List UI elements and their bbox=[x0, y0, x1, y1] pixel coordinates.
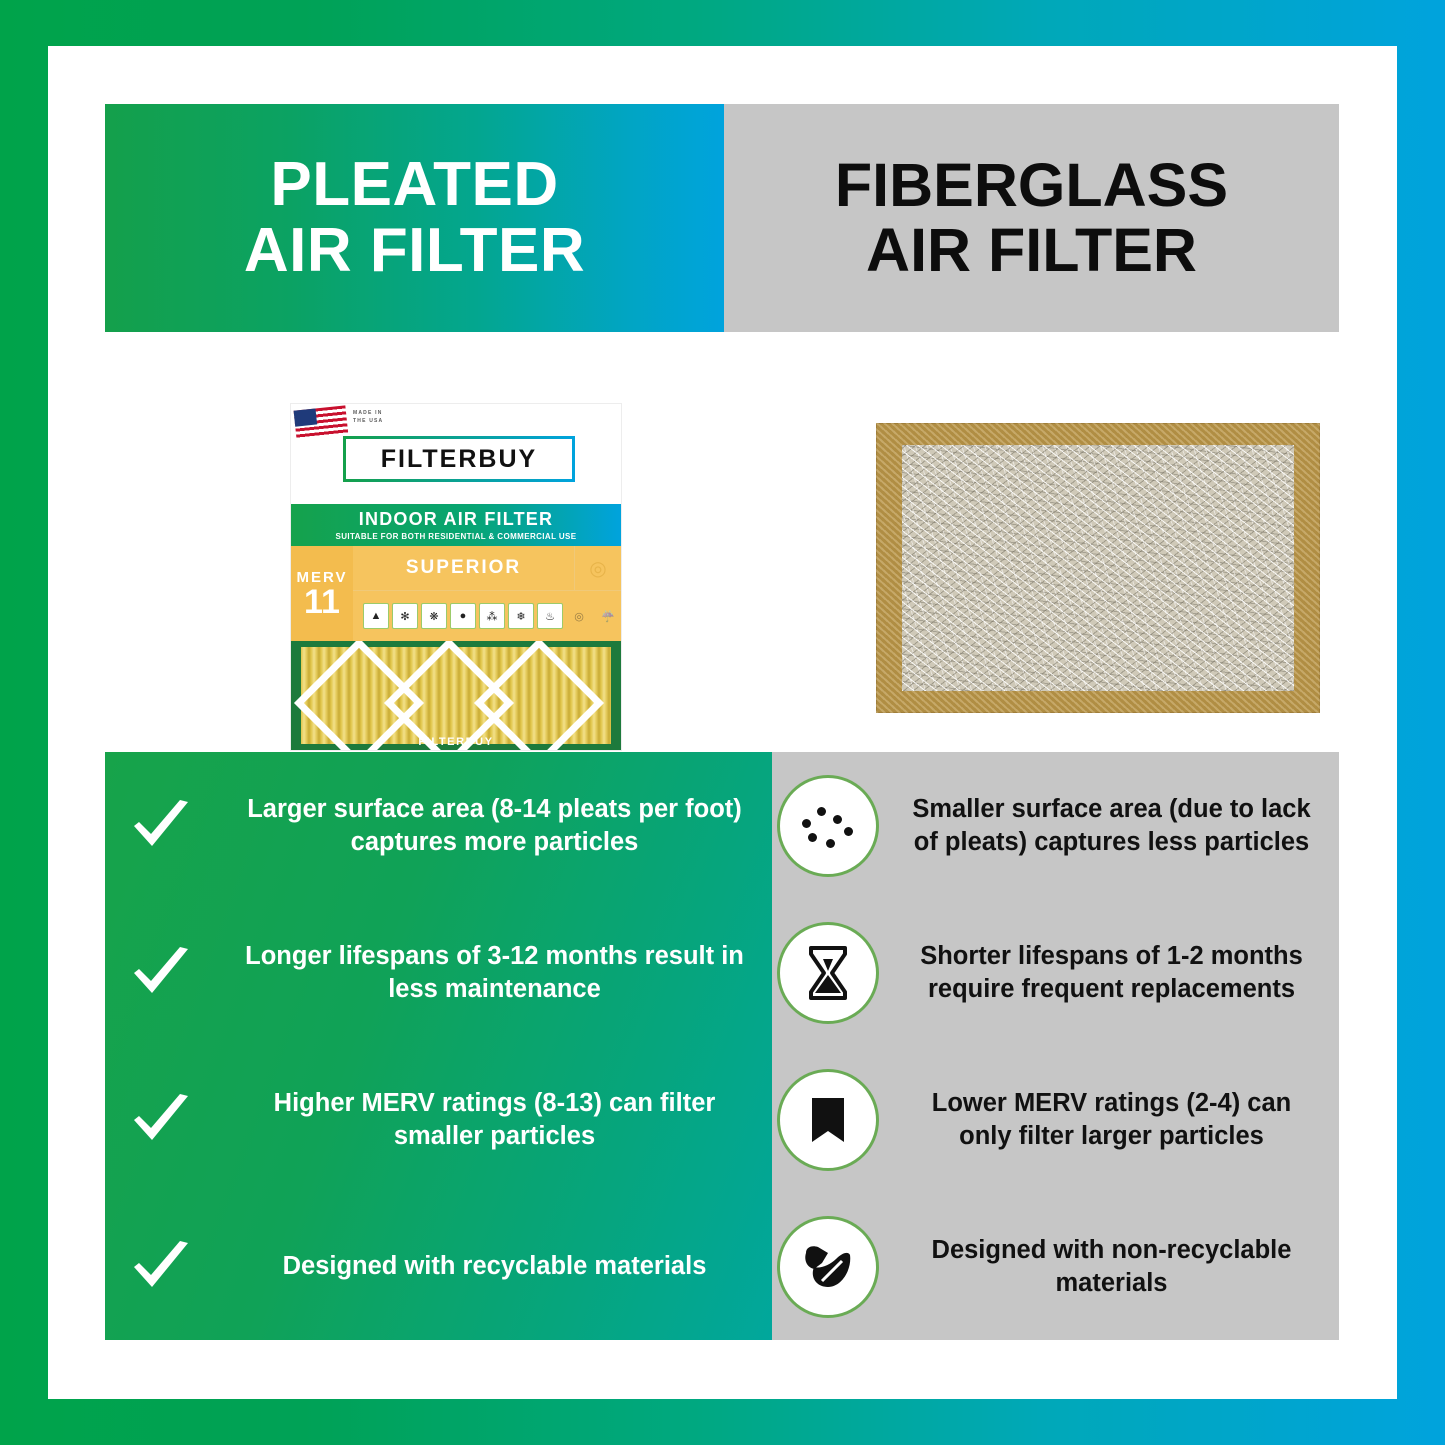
product-image-band: MADE IN THE USA FILTERBUY INDOOR AIR FIL… bbox=[105, 332, 1339, 752]
checkmark-icon bbox=[105, 1239, 217, 1295]
made-in-line1: MADE IN bbox=[353, 410, 383, 418]
odor-icon: ☔ bbox=[595, 603, 621, 629]
bacteria-icon: ● bbox=[450, 603, 476, 629]
filterbuy-logo-text: FILTERBUY bbox=[381, 445, 537, 474]
infographic-canvas: PLEATED AIR FILTER FIBERGLASS AIR FILTER… bbox=[48, 46, 1397, 1399]
bookmark-icon bbox=[783, 1075, 873, 1165]
comparison-row: Larger surface area (8-14 pleats per foo… bbox=[105, 752, 1339, 899]
made-in-usa-text: MADE IN THE USA bbox=[353, 410, 383, 425]
dot bbox=[844, 827, 853, 836]
dot bbox=[826, 839, 835, 848]
hourglass-icon bbox=[783, 928, 873, 1018]
comparison-row: Higher MERV ratings (8-13) can filter sm… bbox=[105, 1046, 1339, 1193]
row-right-text: Shorter lifespans of 1-2 months require … bbox=[884, 940, 1339, 1004]
comparison-rows: Larger surface area (8-14 pleats per foo… bbox=[105, 752, 1339, 1340]
dot bbox=[817, 807, 826, 816]
checkmark-icon bbox=[105, 798, 217, 854]
row-icon-cell bbox=[772, 781, 884, 871]
header-fiberglass-line1: FIBERGLASS bbox=[835, 153, 1228, 218]
header-pleated-line1: PLEATED bbox=[244, 152, 585, 218]
checkmark-icon bbox=[105, 1092, 217, 1148]
row-icon-cell bbox=[772, 1222, 884, 1312]
header-pleated-line2: AIR FILTER bbox=[244, 218, 585, 284]
merv-badge: MERV 11 bbox=[291, 546, 353, 641]
virus-icon: ◎ bbox=[566, 603, 592, 629]
row-right-text: Lower MERV ratings (2-4) can only filter… bbox=[884, 1087, 1339, 1151]
box-top-section: MADE IN THE USA FILTERBUY bbox=[291, 404, 621, 504]
header-pleated-title: PLEATED AIR FILTER bbox=[244, 152, 585, 285]
dot bbox=[833, 815, 842, 824]
made-in-line2: THE USA bbox=[353, 418, 383, 426]
box-mini-icon-row: ▲ ✻ ❋ ● ⁂ ❄ ♨ ◎ ☔ bbox=[353, 591, 621, 641]
row-left-text: Higher MERV ratings (8-13) can filter sm… bbox=[217, 1087, 772, 1151]
particle-dots bbox=[800, 801, 856, 851]
tier-label: SUPERIOR bbox=[353, 557, 574, 579]
row-icon-cell bbox=[772, 1075, 884, 1165]
checkmark-icon bbox=[105, 945, 217, 1001]
dot bbox=[802, 819, 811, 828]
comparison-row: Longer lifespans of 3-12 months result i… bbox=[105, 899, 1339, 1046]
fiberglass-mesh bbox=[902, 445, 1294, 691]
merv-value: 11 bbox=[304, 586, 340, 618]
comparison-section: Larger surface area (8-14 pleats per foo… bbox=[105, 752, 1339, 1340]
box-band: INDOOR AIR FILTER SUITABLE FOR BOTH RESI… bbox=[291, 504, 621, 546]
smoke-icon: ♨ bbox=[537, 603, 563, 629]
header-fiberglass-title: FIBERGLASS AIR FILTER bbox=[835, 153, 1228, 284]
row-left-text: Larger surface area (8-14 pleats per foo… bbox=[217, 793, 772, 857]
header-pleated: PLEATED AIR FILTER bbox=[105, 104, 724, 332]
ul-certification-icon: ◎ bbox=[574, 546, 621, 590]
gradient-border: PLEATED AIR FILTER FIBERGLASS AIR FILTER… bbox=[0, 0, 1445, 1445]
pet-dander-icon: ❄ bbox=[508, 603, 534, 629]
particle-icon: ⁂ bbox=[479, 603, 505, 629]
filterbuy-logo: FILTERBUY bbox=[343, 436, 575, 482]
usa-flag-icon bbox=[294, 405, 349, 440]
box-amber-right: SUPERIOR ◎ ▲ ✻ ❋ ● ⁂ ❄ ♨ ◎ ☔ bbox=[353, 546, 621, 641]
box-filter-media: FILTERBUY bbox=[291, 641, 621, 750]
box-band-subtitle: SUITABLE FOR BOTH RESIDENTIAL & COMMERCI… bbox=[335, 532, 576, 541]
comparison-row: Designed with recyclable materials Desig… bbox=[105, 1193, 1339, 1340]
row-icon-cell bbox=[772, 928, 884, 1018]
pollen-icon: ✻ bbox=[392, 603, 418, 629]
box-band-title: INDOOR AIR FILTER bbox=[359, 509, 553, 530]
pleated-filter-box-image: MADE IN THE USA FILTERBUY INDOOR AIR FIL… bbox=[291, 404, 621, 750]
row-left-text: Longer lifespans of 3-12 months result i… bbox=[217, 940, 772, 1004]
box-footer-brand: FILTERBUY bbox=[291, 736, 621, 748]
header-fiberglass: FIBERGLASS AIR FILTER bbox=[724, 104, 1339, 332]
mold-icon: ❋ bbox=[421, 603, 447, 629]
row-right-text: Smaller surface area (due to lack of ple… bbox=[884, 793, 1339, 857]
dust-icon: ▲ bbox=[363, 603, 389, 629]
fiberglass-filter-image bbox=[876, 423, 1320, 713]
dot bbox=[808, 833, 817, 842]
header-fiberglass-line2: AIR FILTER bbox=[835, 218, 1228, 283]
row-right-text: Designed with non-recyclable materials bbox=[884, 1234, 1339, 1298]
diamond-support-grid bbox=[301, 647, 611, 744]
tier-row: SUPERIOR ◎ bbox=[353, 546, 621, 591]
diamond-3 bbox=[474, 641, 604, 750]
header-bar: PLEATED AIR FILTER FIBERGLASS AIR FILTER bbox=[105, 104, 1339, 332]
particles-icon bbox=[783, 781, 873, 871]
leaf-icon bbox=[783, 1222, 873, 1312]
row-left-text: Designed with recyclable materials bbox=[217, 1250, 772, 1282]
box-amber-section: MERV 11 SUPERIOR ◎ ▲ ✻ ❋ ● ⁂ bbox=[291, 546, 621, 641]
